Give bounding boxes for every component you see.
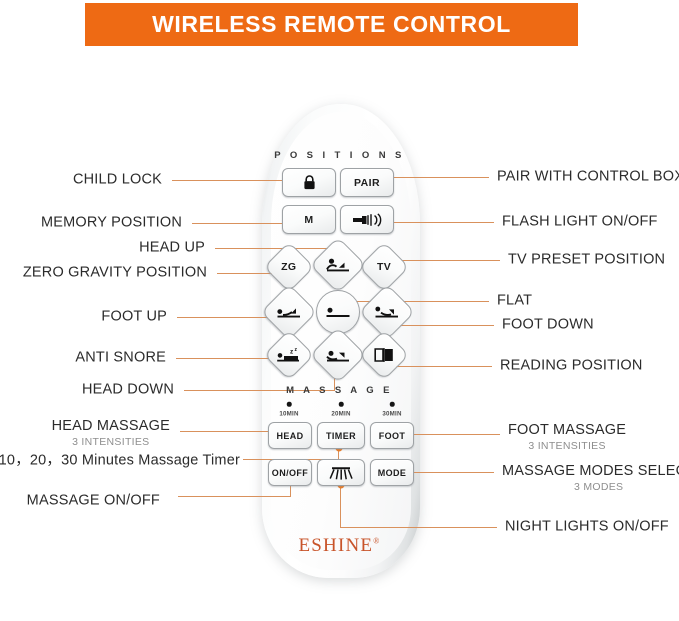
timer-led-30	[390, 402, 395, 407]
timer-led-10-label: 10MIN	[279, 411, 298, 418]
massage-timer-label: TIMER	[326, 431, 356, 441]
timer-led-10	[287, 402, 292, 407]
tv-preset-button[interactable]: TV	[359, 242, 410, 293]
brand-logo: ESHINE®	[0, 535, 679, 557]
timer-led-30-label: 30MIN	[382, 411, 401, 418]
head-massage-button[interactable]: HEAD	[268, 422, 312, 449]
child-lock-button[interactable]	[282, 168, 336, 197]
remote-face: P O S I T I O N S PAIR M	[0, 0, 679, 621]
infographic-root: WIRELESS REMOTE CONTROL P O S I T I O N …	[0, 0, 679, 621]
foot-down-button[interactable]	[359, 284, 416, 341]
svg-text:z: z	[290, 348, 294, 355]
head-up-button[interactable]	[310, 237, 367, 294]
memory-button-label: M	[304, 214, 313, 226]
tv-button-label: TV	[377, 261, 391, 273]
anti-snore-icon: z z	[276, 347, 302, 363]
lock-icon	[303, 175, 316, 190]
reading-position-button[interactable]	[359, 330, 410, 381]
memory-position-button[interactable]: M	[282, 205, 336, 234]
brand-trademark: ®	[373, 537, 380, 546]
zero-gravity-label: ZG	[281, 261, 296, 273]
flat-button[interactable]	[316, 290, 360, 334]
massage-onoff-button[interactable]: ON/OFF	[268, 459, 312, 486]
svg-text:z: z	[295, 347, 298, 353]
flashlight-icon	[352, 213, 382, 227]
head-down-icon	[325, 347, 351, 363]
massage-section-label: M A S S A G E	[0, 385, 679, 396]
brand-name: ESHINE	[298, 535, 373, 556]
pair-button[interactable]: PAIR	[340, 168, 394, 197]
foot-down-icon	[374, 304, 400, 320]
flat-icon	[325, 305, 351, 319]
foot-massage-button[interactable]: FOOT	[370, 422, 414, 449]
massage-mode-button[interactable]: MODE	[370, 459, 414, 486]
pair-button-label: PAIR	[354, 177, 380, 189]
night-light-button[interactable]	[317, 459, 365, 486]
massage-timer-button[interactable]: TIMER	[317, 422, 365, 449]
massage-onoff-label: ON/OFF	[272, 468, 308, 478]
head-up-icon	[325, 257, 351, 273]
zero-gravity-button[interactable]: ZG	[264, 242, 315, 293]
timer-led-20-label: 20MIN	[331, 411, 350, 418]
foot-massage-label: FOOT	[379, 431, 406, 441]
positions-section-label: P O S I T I O N S	[0, 150, 679, 161]
massage-mode-label: MODE	[378, 468, 407, 478]
book-icon	[374, 347, 394, 363]
head-massage-label: HEAD	[276, 431, 303, 441]
anti-snore-button[interactable]: z z	[264, 330, 315, 381]
timer-led-20	[339, 402, 344, 407]
flash-light-button[interactable]	[340, 205, 394, 234]
night-light-icon	[328, 465, 354, 481]
head-down-button[interactable]	[310, 327, 367, 384]
foot-up-icon	[276, 304, 302, 320]
